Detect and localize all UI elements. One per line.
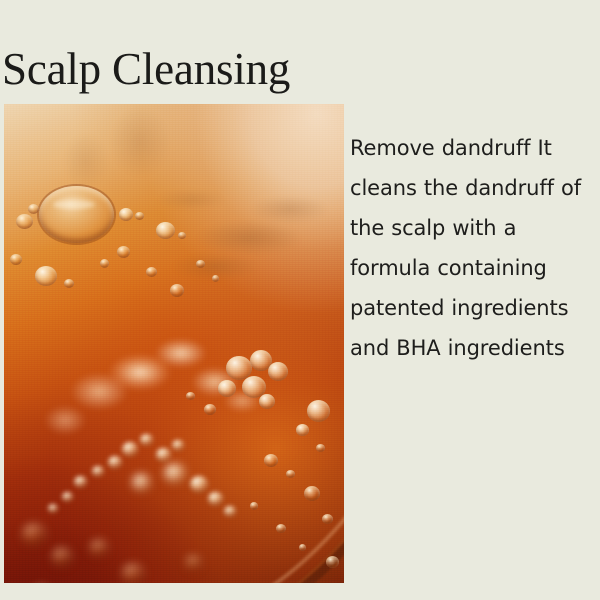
- bubble: [28, 204, 39, 214]
- bubble: [48, 504, 58, 513]
- bubble: [212, 275, 219, 282]
- bubble: [119, 208, 133, 221]
- bubble: [22, 524, 46, 546]
- page-title: Scalp Cleansing: [2, 43, 290, 95]
- bubble: [156, 448, 171, 462]
- bubble: [172, 440, 184, 451]
- bubble: [122, 564, 144, 583]
- bubble: [186, 392, 195, 400]
- bubble: [190, 476, 208, 493]
- bubble: [92, 466, 104, 477]
- large-bubble: [39, 186, 114, 243]
- bubble: [178, 232, 186, 239]
- poster-canvas: Scalp Cleansing: [0, 0, 600, 600]
- bubble: [132, 474, 151, 492]
- bubble: [307, 400, 330, 422]
- bubble: [276, 524, 286, 533]
- bubble: [286, 470, 295, 478]
- bubble: [264, 454, 278, 467]
- bubble: [62, 492, 73, 502]
- bubble: [186, 556, 201, 570]
- bubble: [90, 540, 108, 557]
- bubble: [135, 212, 144, 220]
- bubble: [296, 424, 309, 436]
- bubble: [326, 556, 339, 568]
- bubble: [322, 514, 333, 524]
- bubble: [218, 380, 236, 397]
- bubble: [117, 246, 130, 258]
- bubble: [52, 548, 72, 567]
- bubble: [10, 254, 22, 265]
- bubble: [170, 284, 184, 297]
- bubble: [16, 214, 33, 229]
- bubble: [268, 362, 288, 381]
- bubble: [304, 486, 320, 501]
- bubble: [224, 506, 236, 517]
- bubble: [259, 394, 275, 409]
- bubble: [74, 476, 87, 488]
- product-photo: [4, 104, 344, 583]
- bubble: [299, 544, 306, 551]
- bubble: [122, 442, 138, 457]
- bubble: [316, 444, 325, 452]
- bubble: [250, 502, 258, 510]
- bubble: [64, 279, 74, 288]
- bubble: [164, 464, 186, 484]
- bubble: [208, 492, 223, 506]
- bubble: [35, 266, 57, 286]
- bubble: [156, 222, 175, 239]
- bubble: [196, 260, 205, 268]
- bubble: [100, 259, 109, 268]
- bubble: [108, 456, 122, 469]
- bubble: [146, 267, 157, 277]
- body-copy: Remove dandruff It cleans the dandruff o…: [350, 128, 596, 368]
- bubble: [204, 404, 216, 415]
- bubble: [140, 434, 153, 446]
